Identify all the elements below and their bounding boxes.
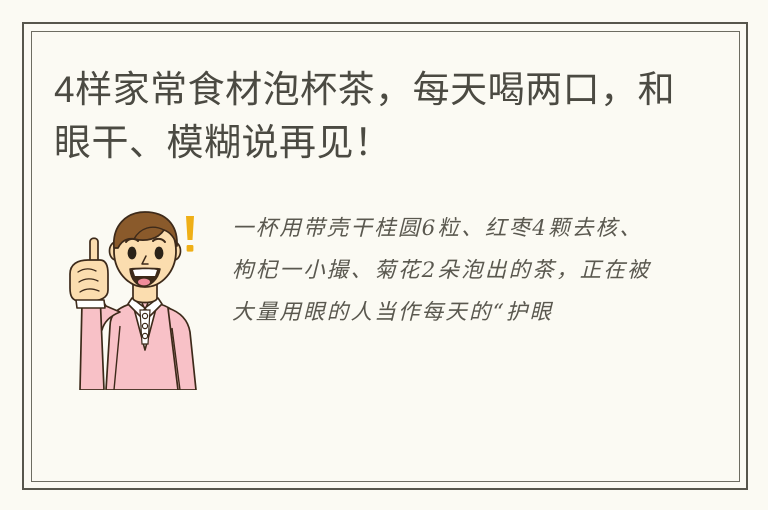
article-card: 4样家常食材泡杯茶，每天喝两口，和眼干、模糊说再见！ [0, 0, 768, 510]
fist [70, 260, 108, 301]
shirt-button-1 [142, 313, 147, 318]
article-body-text: 一杯用带壳干桂圆6粒、红枣4颗去核、枸杞一小撮、菊花2朵泡出的茶，正在被大量用眼… [232, 208, 662, 334]
exclamation-icon [186, 216, 194, 252]
eye-right [155, 247, 164, 260]
shirt-button-2 [142, 323, 147, 328]
cartoon-man-pointing-illustration [54, 198, 214, 390]
article-title: 4样家常食材泡杯茶，每天喝两口，和眼干、模糊说再见！ [54, 63, 694, 169]
teeth [133, 269, 157, 276]
shirt-button-3 [142, 333, 147, 338]
article-body-block: 一杯用带壳干桂圆6粒、红枣4颗去核、枸杞一小撮、菊花2朵泡出的茶，正在被大量用眼… [54, 198, 674, 398]
tongue [138, 279, 150, 286]
eye-left [128, 247, 137, 260]
shirt-cuff [76, 300, 105, 308]
